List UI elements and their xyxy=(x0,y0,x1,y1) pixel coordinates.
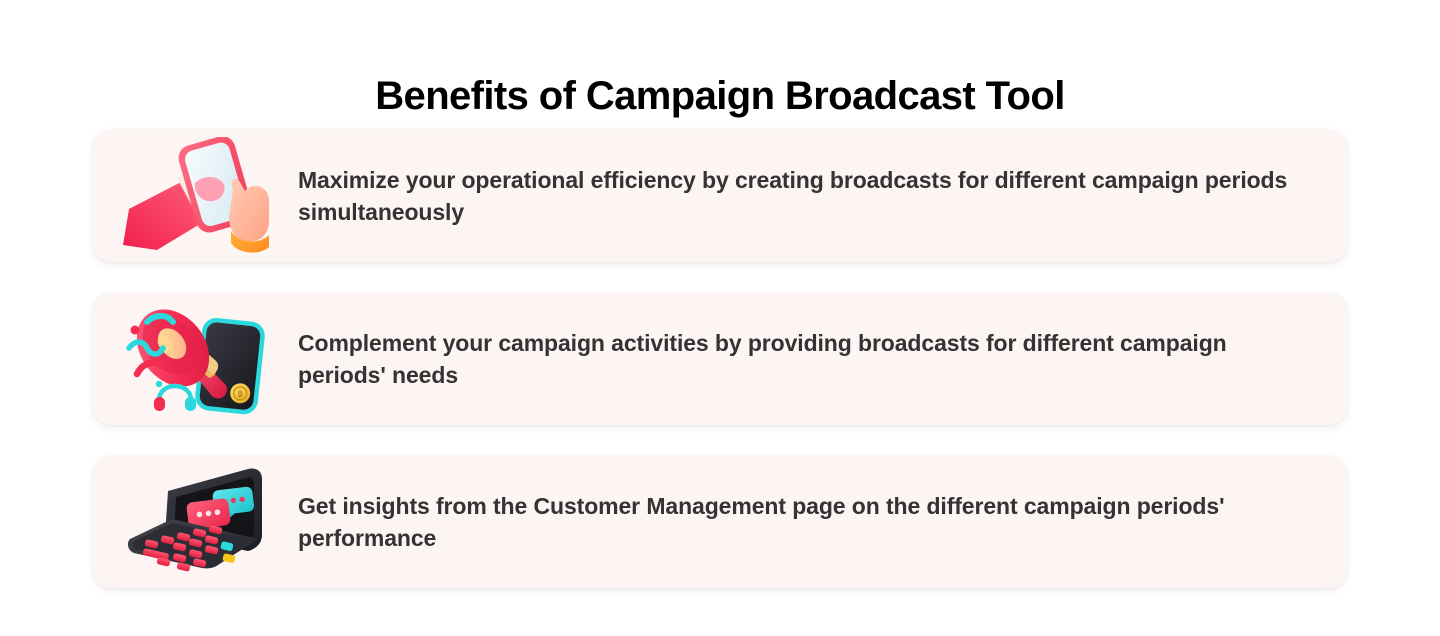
megaphone-phone-icon: $ xyxy=(121,300,271,418)
benefit-card-text: Complement your campaign activities by p… xyxy=(298,327,1332,391)
benefits-card-list: Maximize your operational efficiency by … xyxy=(93,129,1347,588)
benefit-card[interactable]: $ xyxy=(93,292,1347,425)
hand-tapping-phone-icon xyxy=(121,137,271,255)
card-icon-container xyxy=(93,129,298,262)
page-title: Benefits of Campaign Broadcast Tool xyxy=(0,70,1440,122)
benefits-page: Benefits of Campaign Broadcast Tool xyxy=(0,0,1440,636)
card-icon-container xyxy=(93,455,298,588)
benefit-card-text: Get insights from the Customer Managemen… xyxy=(298,490,1332,554)
laptop-chat-bubbles-icon xyxy=(120,463,272,581)
benefit-card-text: Maximize your operational efficiency by … xyxy=(298,164,1332,228)
benefit-card[interactable]: Maximize your operational efficiency by … xyxy=(93,129,1347,262)
card-icon-container: $ xyxy=(93,292,298,425)
benefit-card[interactable]: Get insights from the Customer Managemen… xyxy=(93,455,1347,588)
svg-text:$: $ xyxy=(237,389,243,399)
